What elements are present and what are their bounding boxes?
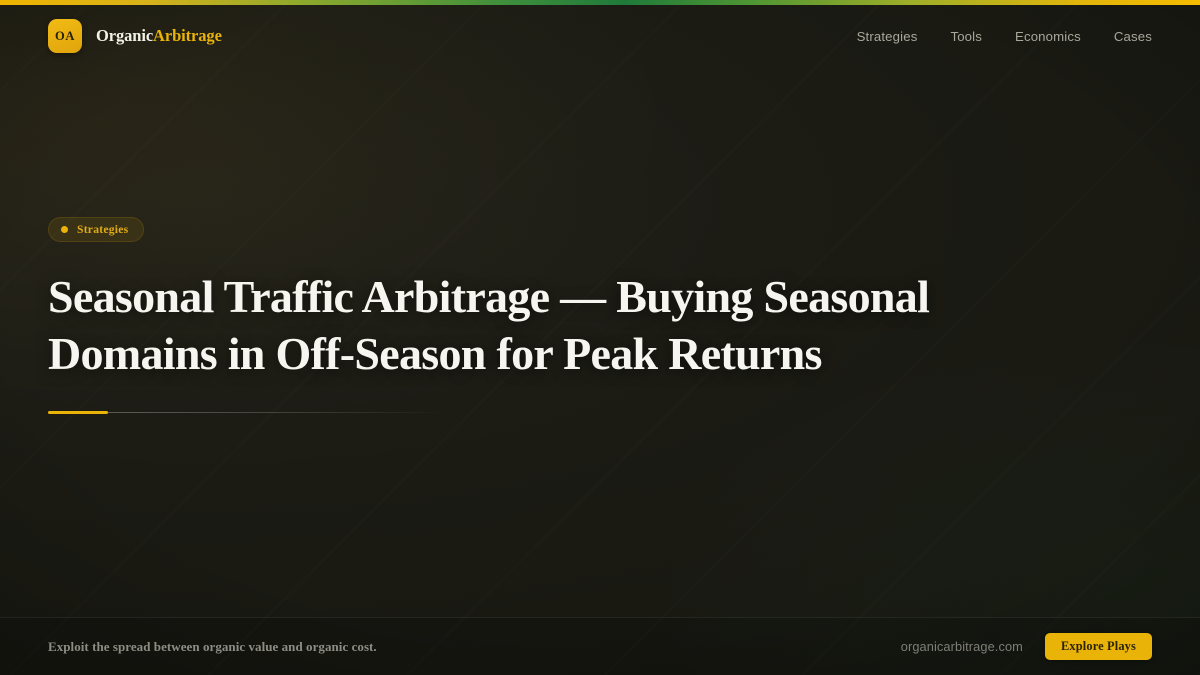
badge-label: Strategies [77,223,128,236]
rule-accent-segment [48,411,108,414]
brand-name-first: Organic [96,26,153,45]
site-header: OA OrganicArbitrage Strategies Tools Eco… [0,0,1200,72]
footer-actions: organicarbitrage.com Explore Plays [901,633,1152,660]
nav-item-strategies[interactable]: Strategies [857,29,918,44]
explore-plays-button[interactable]: Explore Plays [1045,633,1152,660]
footer-tagline: Exploit the spread between organic value… [48,639,377,655]
category-badge[interactable]: Strategies [48,217,144,242]
brand-logo[interactable]: OA OrganicArbitrage [48,19,222,53]
brand-wordmark: OrganicArbitrage [96,26,222,46]
hero-section: Strategies Seasonal Traffic Arbitrage — … [0,72,1200,617]
page-title: Seasonal Traffic Arbitrage — Buying Seas… [48,268,1008,382]
brand-name-second: Arbitrage [153,26,222,45]
rule-thin-line [48,412,448,413]
nav-item-economics[interactable]: Economics [1015,29,1081,44]
site-footer: Exploit the spread between organic value… [0,617,1200,675]
main-navigation: Strategies Tools Economics Cases [857,29,1152,44]
title-underline-rule [48,411,448,414]
page-root: OA OrganicArbitrage Strategies Tools Eco… [0,0,1200,675]
nav-item-tools[interactable]: Tools [950,29,982,44]
brand-monogram-icon: OA [48,19,82,53]
top-accent-gradient-bar [0,0,1200,5]
footer-domain-link[interactable]: organicarbitrage.com [901,639,1023,654]
badge-dot-icon [61,226,68,233]
nav-item-cases[interactable]: Cases [1114,29,1152,44]
